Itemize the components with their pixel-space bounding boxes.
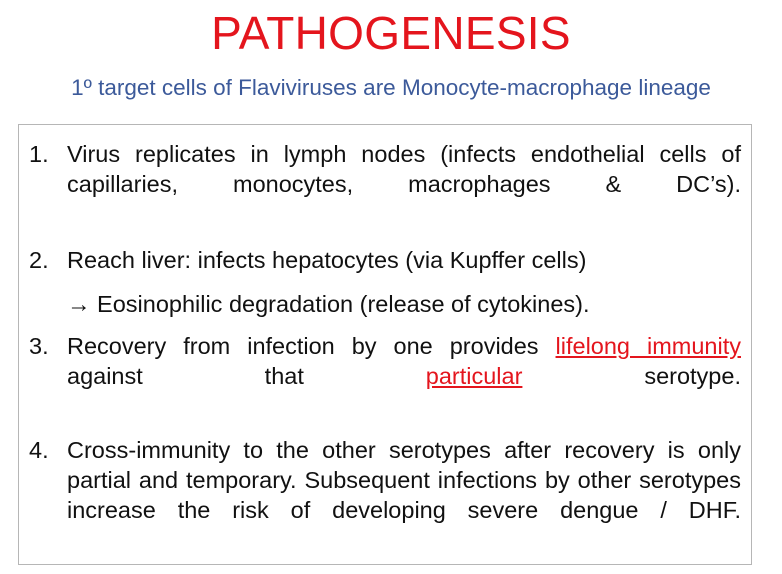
text-segment: serotype. [522, 363, 741, 389]
highlighted-term-particular: particular [426, 363, 523, 389]
list-item-number: 4. [29, 435, 61, 465]
list-item-text: Cross-immunity to the other serotypes af… [67, 435, 741, 555]
list-item: 3. Recovery from infection by one provid… [19, 331, 751, 421]
list-item: 4. Cross-immunity to the other serotypes… [19, 435, 751, 555]
text-segment: Recovery from infection by one provides [67, 333, 556, 359]
list-item-number: 3. [29, 331, 61, 361]
spacer [19, 229, 751, 245]
text-segment: against that [67, 363, 426, 389]
spacer [19, 319, 751, 331]
page-title: PATHOGENESIS [0, 6, 782, 60]
list-item-number: 1. [29, 139, 61, 169]
list-item: 1. Virus replicates in lymph nodes (infe… [19, 139, 751, 229]
numbered-list: 1. Virus replicates in lymph nodes (infe… [19, 139, 751, 555]
spacer [19, 421, 751, 435]
list-item-number: 2. [29, 245, 61, 275]
highlighted-term-lifelong-immunity: lifelong immunity [556, 333, 741, 359]
spacer [19, 275, 751, 289]
list-item-text: Virus replicates in lymph nodes (infects… [67, 139, 741, 229]
slide: PATHOGENESIS 1º target cells of Flavivir… [0, 0, 782, 574]
list-item: 2. Reach liver: infects hepatocytes (via… [19, 245, 751, 275]
spacer-top [19, 125, 751, 139]
list-item-subline: → Eosinophilic degradation (release of c… [19, 289, 751, 319]
content-box: 1. Virus replicates in lymph nodes (infe… [18, 124, 752, 565]
list-item-text: Recovery from infection by one provides … [67, 331, 741, 421]
slide-subtitle: 1º target cells of Flaviviruses are Mono… [0, 74, 782, 102]
list-item-text: Reach liver: infects hepatocytes (via Ku… [67, 245, 741, 275]
